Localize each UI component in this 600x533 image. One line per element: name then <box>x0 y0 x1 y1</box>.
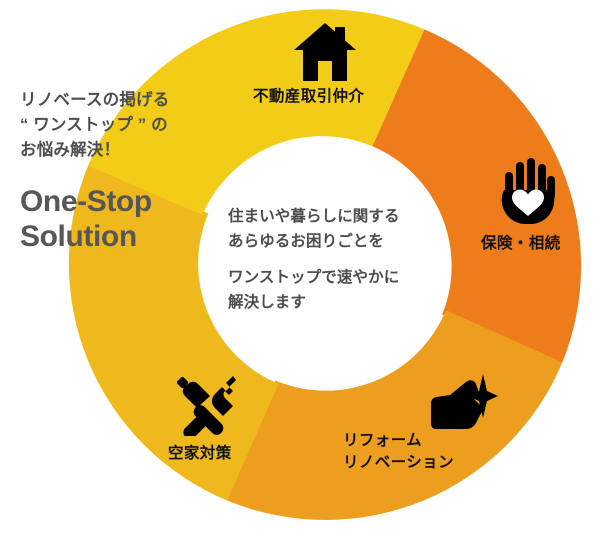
left-headline-block: リノベースの掲げる “ ワンストップ ” の お悩み解決！ One-Stop S… <box>20 88 235 255</box>
page-title-line1: One-Stop <box>20 185 152 218</box>
segment-label-reform: リフォーム リノベーション <box>343 430 454 474</box>
lead-line-2: “ ワンストップ ” の <box>20 113 235 138</box>
segment-label-realestate: 不動産取引仲介 <box>253 86 364 108</box>
segment-insurance[interactable] <box>227 310 562 520</box>
segment-label-akiya: 空家対策 <box>168 443 232 465</box>
center-description-block: 住まいや暮らしに関する あらゆるお困りごとを ワンストップで速やかに 解決します <box>228 204 443 315</box>
hammer-wrench-icon <box>177 374 249 436</box>
segment-label-reform-line2: リノベーション <box>343 452 454 474</box>
one-stop-solution-graphic: 不動産取引仲介 保険・相続 リフォーム リノベーション 空家対策 リノベースの掲… <box>0 0 600 533</box>
segment-label-insurance: 保険・相続 <box>481 233 561 255</box>
description-line-3: ワンストップで速やかに <box>228 265 443 290</box>
lead-line-3: お悩み解決！ <box>20 138 235 163</box>
house-icon <box>294 23 356 81</box>
hand-heart-icon <box>500 158 556 224</box>
description-gap <box>228 254 443 265</box>
page-title-line2: Solution <box>20 220 235 255</box>
description-line-4: 解決します <box>228 290 443 315</box>
description-line-1: 住まいや暮らしに関する <box>228 204 443 229</box>
description-line-2: あらゆるお困りごとを <box>228 229 443 254</box>
segment-label-reform-line1: リフォーム <box>343 430 454 452</box>
lead-line-1: リノベースの掲げる <box>20 88 235 113</box>
sparkle-house-icon <box>430 374 498 436</box>
page-title: One-Stop Solution <box>20 185 235 255</box>
